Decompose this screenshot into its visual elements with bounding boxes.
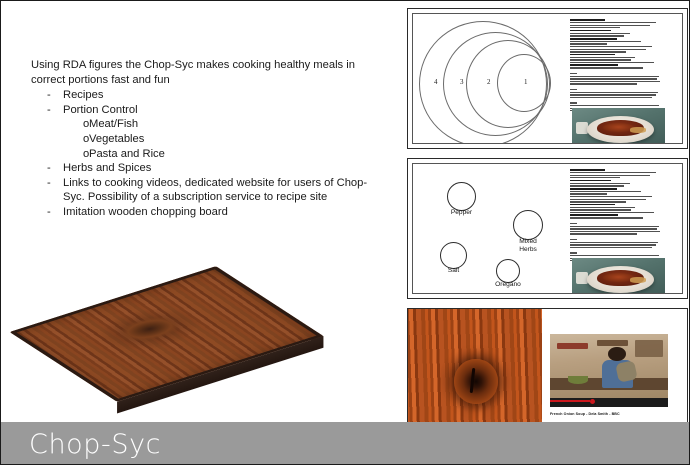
video-progress-handle[interactable] xyxy=(590,399,595,404)
spice-circle-mixed-herbs: MixedHerbs xyxy=(513,210,543,240)
video-caption: French Onion Soup - Dela Smith - BBC xyxy=(550,412,620,416)
lead-paragraph: Using RDA figures the Chop-Syc makes coo… xyxy=(31,58,376,87)
bullet-marker-circle: o xyxy=(83,147,89,162)
list-item-label: Portion Control xyxy=(63,103,376,118)
green-bowl xyxy=(568,376,588,384)
board-rim xyxy=(10,266,324,402)
spice-ring xyxy=(496,259,520,283)
panel-inner-border: 4 3 2 1 xyxy=(412,13,683,144)
kitchen-shelf-mid xyxy=(597,340,628,345)
list-item-label: Meat/Fish xyxy=(89,117,376,132)
spice-label: Oregano xyxy=(495,281,521,289)
list-item-label: Pasta and Rice xyxy=(89,147,376,162)
portion-label-1: 1 xyxy=(524,78,528,86)
bullet-marker: - xyxy=(47,103,51,118)
list-item: - Recipes xyxy=(31,88,376,103)
list-item: o Vegetables xyxy=(31,132,376,147)
video-progress-fill xyxy=(550,400,590,402)
portion-label-2: 2 xyxy=(487,78,491,86)
herbs-and-spices-panel: Pepper MixedHerbs Salt Oregano xyxy=(407,158,688,299)
chopping-board-render xyxy=(39,238,359,383)
spice-label: MixedHerbs xyxy=(508,238,548,253)
food-noodle xyxy=(630,127,647,132)
list-item: o Meat/Fish xyxy=(31,117,376,132)
list-item-label: Links to cooking videos, dedicated websi… xyxy=(63,176,376,205)
list-item: - Portion Control xyxy=(31,103,376,118)
panel-inner-border: Pepper MixedHerbs Salt Oregano xyxy=(412,163,683,294)
list-item-label: Recipes xyxy=(63,88,376,103)
recipe-text-block xyxy=(570,19,663,113)
spice-label: Salt xyxy=(448,267,459,275)
slide-canvas: Using RDA figures the Chop-Syc makes coo… xyxy=(0,0,690,465)
list-item-label: Herbs and Spices xyxy=(63,161,376,176)
list-item: - Links to cooking videos, dedicated web… xyxy=(31,176,376,205)
bullet-marker: - xyxy=(47,205,51,220)
portion-label-3: 3 xyxy=(460,78,464,86)
kitchen-shelf-left xyxy=(557,343,588,349)
list-item-label: Vegetables xyxy=(89,132,376,147)
spice-circle-pepper: Pepper xyxy=(447,182,476,211)
bullet-marker: - xyxy=(47,176,51,191)
spice-ring xyxy=(440,242,467,269)
food-jar xyxy=(576,272,588,284)
spice-ring xyxy=(447,182,476,211)
list-item: - Herbs and Spices xyxy=(31,161,376,176)
food-photo xyxy=(572,108,665,144)
recipe-text-block xyxy=(570,169,663,263)
wood-knot xyxy=(454,359,498,403)
chef-head xyxy=(608,347,626,361)
page-title: Chop-Syc xyxy=(29,429,161,460)
food-photo xyxy=(572,258,665,294)
cooking-video-player[interactable] xyxy=(550,334,668,407)
spice-circle-salt: Salt xyxy=(440,242,467,269)
spice-ring xyxy=(513,210,543,240)
footer-bar: Chop-Syc xyxy=(1,422,689,464)
list-item: - Imitation wooden chopping board xyxy=(31,205,376,220)
spice-label: Pepper xyxy=(451,209,472,217)
video-frame xyxy=(550,334,668,398)
body-text-block: Using RDA figures the Chop-Syc makes coo… xyxy=(31,58,376,220)
bullet-list: - Recipes - Portion Control o Meat/Fish … xyxy=(31,88,376,219)
portion-control-panel: 4 3 2 1 xyxy=(407,8,688,149)
left-content-column: Using RDA figures the Chop-Syc makes coo… xyxy=(1,1,397,464)
kitchen-shelf-right xyxy=(635,340,663,357)
list-item: o Pasta and Rice xyxy=(31,147,376,162)
food-jar xyxy=(576,122,588,134)
food-noodle xyxy=(630,277,647,282)
bullet-marker: - xyxy=(47,88,51,103)
bullet-marker-circle: o xyxy=(83,117,89,132)
portion-label-4: 4 xyxy=(434,78,438,86)
bullet-marker: - xyxy=(47,161,51,176)
list-item-label: Imitation wooden chopping board xyxy=(63,205,376,220)
chopping-board-3d xyxy=(10,266,324,402)
spice-circle-oregano: Oregano xyxy=(496,259,520,283)
bullet-marker-circle: o xyxy=(83,132,89,147)
video-progress-bar[interactable] xyxy=(550,398,668,407)
